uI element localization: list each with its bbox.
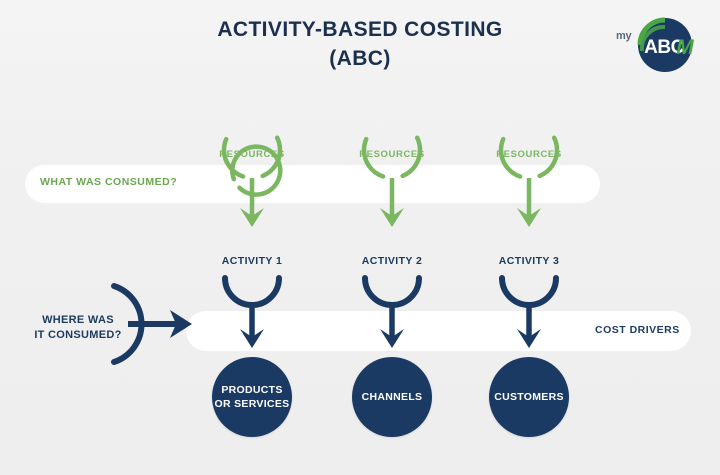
resource-label-2: RESOURCES [340, 149, 444, 160]
resource-unit-2: RESOURCES [340, 108, 444, 234]
activity-cup-arrow-icon [200, 255, 304, 361]
svg-text:M: M [676, 36, 694, 59]
activity-cup-arrow-icon [477, 255, 581, 361]
resource-ring-arrow-icon [477, 108, 581, 234]
object-circle-customers: CUSTOMERS [489, 357, 569, 437]
activity-unit-1: ACTIVITY 1 [200, 255, 304, 361]
logo-prefix-text: my [616, 30, 631, 42]
resource-label-3: RESOURCES [477, 149, 581, 160]
title-line-1: ACTIVITY-BASED COSTING [120, 16, 600, 44]
diagram-canvas: ACTIVITY-BASED COSTING (ABC) my ABC M WH… [0, 0, 720, 475]
object-label-line-2: OR SERVICES [215, 398, 290, 410]
where-label-line-1: WHERE WAS [42, 314, 114, 326]
cost-drivers-label: COST DRIVERS [595, 324, 680, 336]
activity-cup-arrow-icon [340, 255, 444, 361]
object-circle-label: CUSTOMERS [494, 390, 564, 404]
object-label-line-1: PRODUCTS [221, 384, 282, 396]
activity-unit-2: ACTIVITY 2 [340, 255, 444, 361]
object-circle-label: CHANNELS [362, 390, 423, 404]
object-label-line-1: CUSTOMERS [494, 391, 564, 403]
resource-ring-arrow-icon [200, 108, 304, 234]
bracket-arrow-icon [106, 282, 198, 366]
resource-unit-1: RESOURCES [200, 108, 304, 234]
object-circle-label: PRODUCTS OR SERVICES [215, 383, 290, 411]
what-was-consumed-label: WHAT WAS CONSUMED? [40, 176, 177, 188]
page-title: ACTIVITY-BASED COSTING (ABC) [120, 16, 600, 74]
object-circle-channels: CHANNELS [352, 357, 432, 437]
activity-unit-3: ACTIVITY 3 [477, 255, 581, 361]
myabcm-logo: my ABC M [612, 14, 708, 76]
object-label-line-1: CHANNELS [362, 391, 423, 403]
resource-label-1: RESOURCES [200, 149, 304, 160]
resource-ring-arrow-icon [340, 108, 444, 234]
object-circle-products-or-services: PRODUCTS OR SERVICES [212, 357, 292, 437]
logo-mark-icon: ABC M [612, 14, 708, 76]
title-line-2: (ABC) [120, 44, 600, 74]
resource-unit-3: RESOURCES [477, 108, 581, 234]
